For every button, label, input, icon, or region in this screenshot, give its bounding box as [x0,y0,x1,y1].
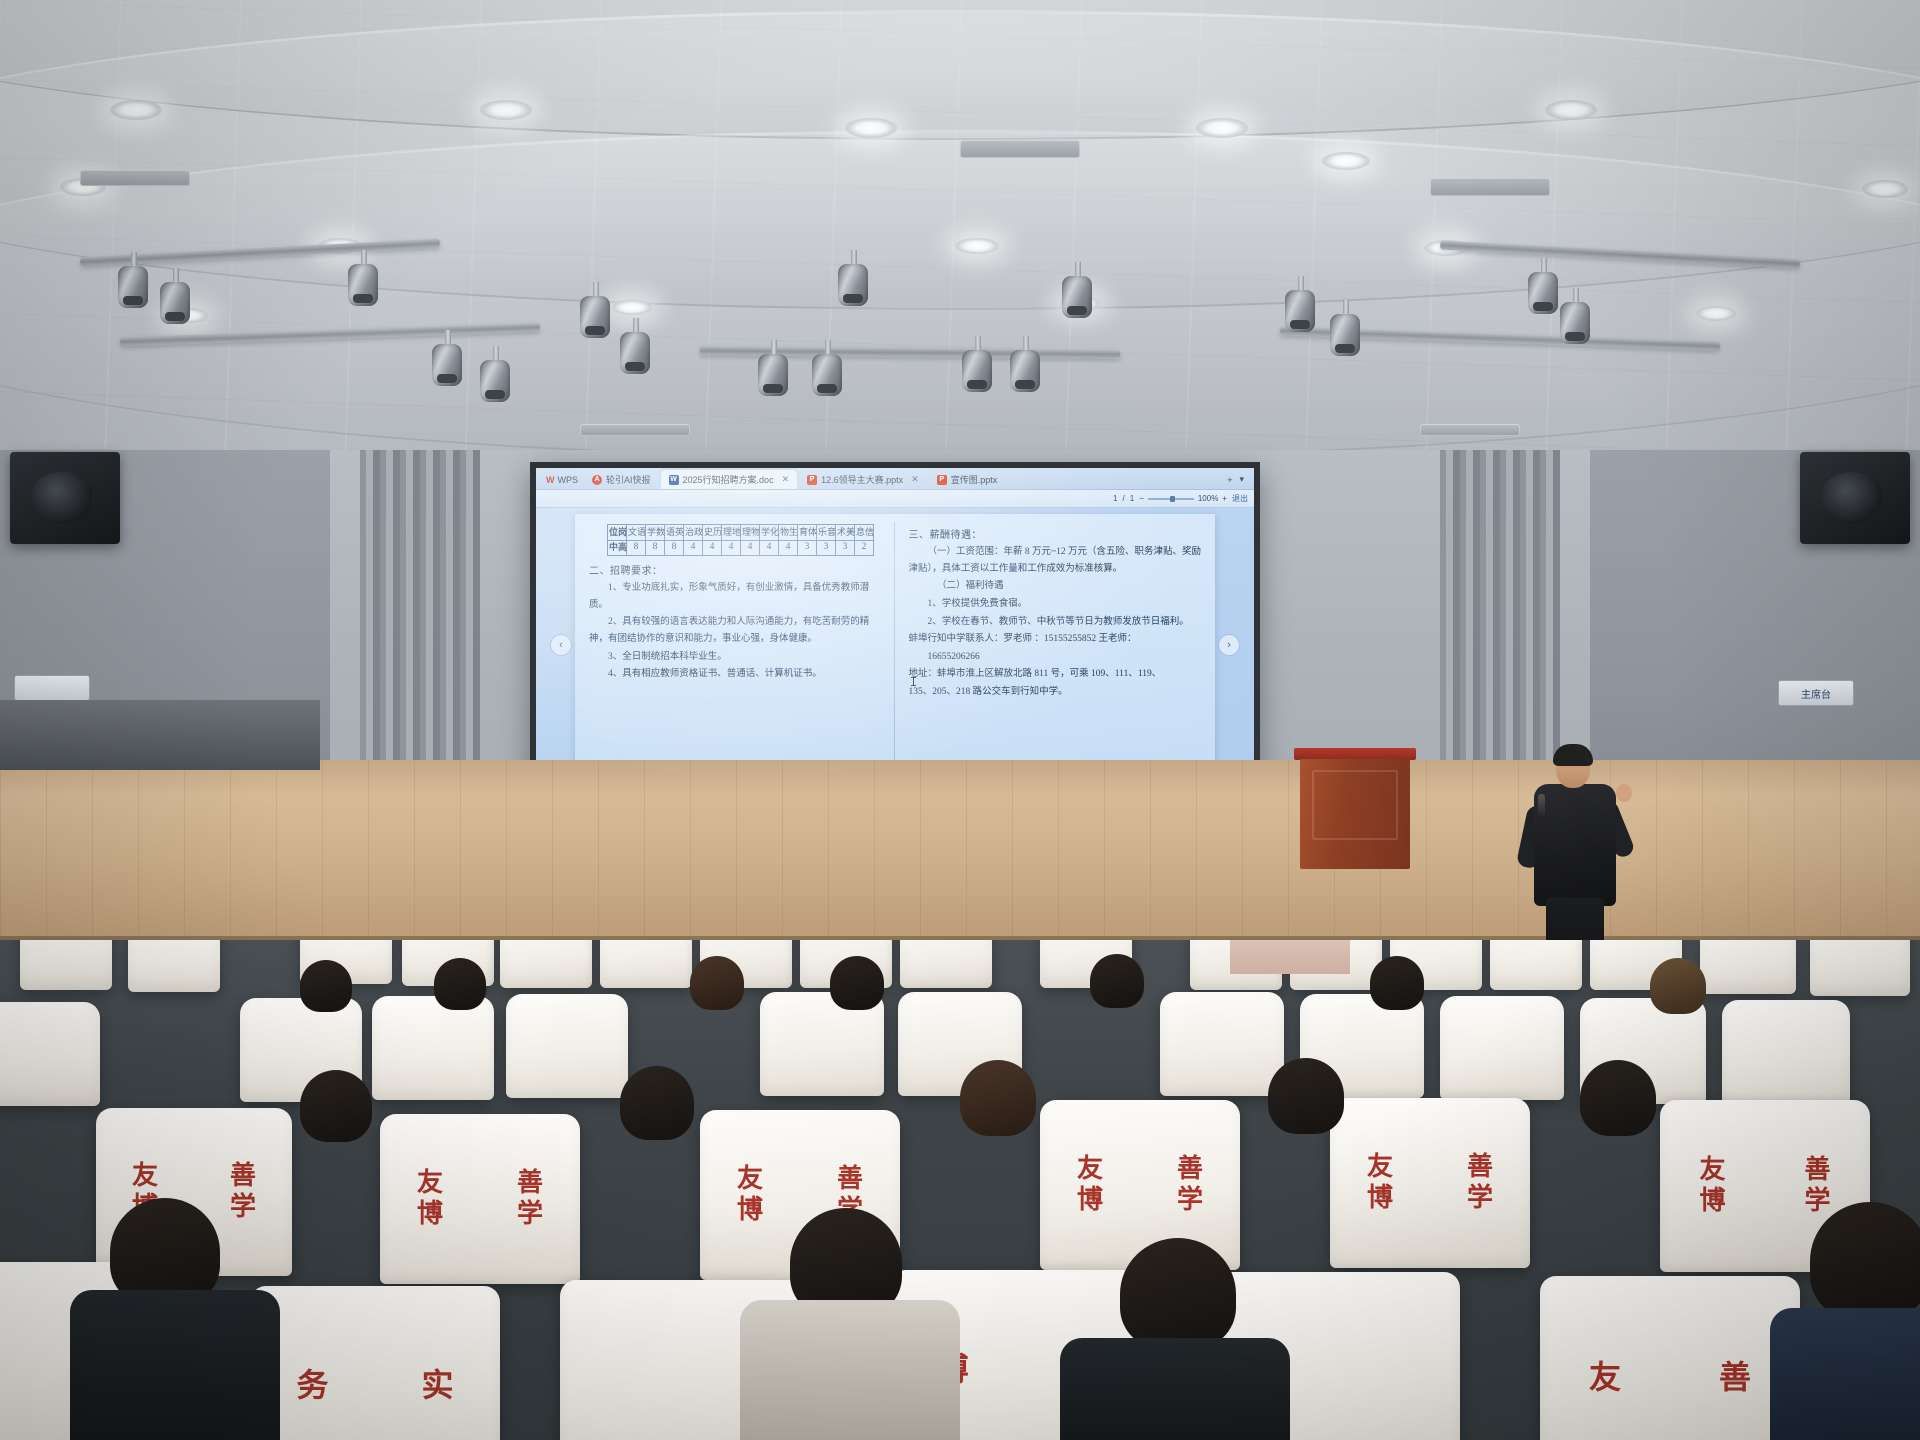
ceiling [0,0,1920,470]
text-caret [913,677,914,686]
chair-motto: 友 善 博 学 [380,1114,580,1284]
tab-label: 宣传图.pptx [951,473,998,486]
requirement-item: 3、全日制统招本科毕业生。 [589,649,882,666]
audience-head [1120,1238,1236,1350]
table-cell: 3 [798,540,817,556]
chair [1700,940,1796,994]
toolbar-right-group: 1 / 1 − 100% + 退出 [1113,493,1248,504]
motto-char: 学 [517,1199,543,1230]
table-header-cell: 化学 [760,525,779,541]
tab-promo-pptx[interactable]: P 宣传图.pptx [929,470,1006,489]
requirement-item: 4、具有相应教师资格证书、普通话、计算机证书。 [589,666,882,683]
chair [372,996,494,1100]
salary-range-paragraph: （一）工资范围：年薪 8 万元~12 万元（含五险、职务津贴、奖励津贴），具体工… [909,544,1202,577]
speaking-podium [1300,748,1410,868]
subject-label: 英语 [665,525,683,536]
audience-head [620,1066,694,1140]
contact-phone-second: 16655206266 [909,649,1202,666]
chair: 务 实 [250,1286,500,1440]
motto-char: 实 [421,1367,453,1405]
wps-logo: W WPS [540,475,584,485]
audience-head [1810,1202,1920,1320]
table-corner-label: 岗位 [608,525,626,536]
table-cell: 8 [627,540,646,556]
chair [600,940,692,988]
subject-label: 化学 [760,525,778,536]
zoom-out-button[interactable]: − [1139,494,1144,503]
table-cell: 4 [703,540,722,556]
subject-label: 地理 [722,525,740,536]
motto-char: 友 [417,1168,443,1199]
motto-char: 友 [1589,1359,1621,1397]
requirements-heading: 二、招聘要求： [589,562,882,577]
tab-label: 轮引AI快报 [606,473,651,486]
chair [1810,940,1910,996]
ceiling-downlight [110,100,162,120]
chair [1490,940,1582,990]
zoom-in-button[interactable]: + [1222,494,1227,503]
next-page-button[interactable]: › [1218,634,1240,656]
table-row-header: 岗位 语文 数学 英语 政治 历史 地理 物理 化学 生物 [608,525,874,541]
audience-torso [70,1290,280,1440]
exit-button[interactable]: 退出 [1232,493,1248,504]
motto-char: 博 [417,1199,443,1230]
audience-torso [1230,940,1350,974]
address-line-2: 135、205、218 路公交车到行知中学。 [909,684,1202,701]
motto-char: 务 [296,1367,328,1405]
table-header-cell: 音乐 [817,525,836,541]
audience-head [434,958,486,1010]
ceiling-downlight [1196,118,1248,138]
subject-label: 美术 [836,525,854,536]
ceiling-downlight [1696,306,1736,321]
ac-vent [1430,178,1550,196]
tab-recruitment-doc[interactable]: W 2025行知招聘方案.doc ✕ [661,470,798,489]
stage-floor [0,760,1920,960]
word-doc-icon: W [669,475,679,485]
close-icon[interactable]: ✕ [911,474,919,485]
table-cell: 3 [817,540,836,556]
wps-tabbar: W WPS A 轮引AI快报 W 2025行知招聘方案.doc ✕ P 12.6… [536,468,1254,490]
wps-toolbar: 1 / 1 − 100% + 退出 [536,490,1254,508]
table-cell: 3 [836,540,855,556]
chair [0,1002,100,1106]
welfare-item: 1、学校提供免费食宿。 [909,596,1202,613]
sign-left-panel [14,675,90,701]
subject-label: 体育 [798,525,816,536]
chair-motto: 务 实 [250,1286,500,1440]
tab-ai-report[interactable]: A 轮引AI快报 [584,470,659,489]
stage-curtain-left [360,450,480,790]
table-cell: 8 [665,540,684,556]
ac-vent [1420,424,1520,436]
audience-head [300,1070,372,1142]
table-header-cell: 英语 [665,525,684,541]
motto-char: 博 [1077,1185,1103,1216]
zoom-level-label: 100% [1198,494,1218,503]
chair: 友 善 博 学 [380,1114,580,1284]
motto-char: 善 [517,1168,543,1199]
audience-torso [1060,1338,1290,1440]
table-header-cell: 数学 [646,525,665,541]
tabbar-controls: + ▾ [1227,474,1250,485]
chair: 友 善 博 学 [1330,1098,1530,1268]
audience-head [1268,1058,1344,1134]
chevron-down-icon[interactable]: ▾ [1239,474,1244,485]
subject-quota-table: 岗位 语文 数学 英语 政治 历史 地理 物理 化学 生物 [607,524,874,556]
chair [128,940,220,992]
table-cell: 4 [684,540,703,556]
document-viewport[interactable]: 岗位 语文 数学 英语 政治 历史 地理 物理 化学 生物 [536,508,1254,799]
subject-label: 语文 [627,525,645,536]
ceiling-downlight [1545,100,1597,120]
subject-label: 历史 [703,525,721,536]
chair-motto: 友 善 博 学 [1040,1100,1240,1270]
subject-label: 生物 [779,525,797,536]
presenter-speaker [1520,748,1630,958]
auditorium-scene: 主席台 出口 出口 W WPS A 轮引AI快报 W 2025行知招聘方案.do… [0,0,1920,1440]
motto-char: 友 [737,1164,763,1195]
chair-motto: 友 善 博 学 [1330,1098,1530,1268]
ceiling-downlight [480,100,532,120]
table-cell: 4 [741,540,760,556]
welfare-heading: （二）福利待遇 [909,578,1202,595]
audience-head [960,1060,1036,1136]
powerpoint-icon: P [807,475,817,485]
page-total: 1 [1130,494,1134,503]
address-line: 地址：蚌埠市淮上区解放北路 811 号，可乘 109、111、119、 [909,666,1202,683]
table-row-label: 高中 [608,541,626,552]
new-tab-icon[interactable]: + [1227,475,1232,485]
stage-curtain-right [1440,450,1560,790]
wps-logo-label: WPS [558,475,579,485]
table-header-cell: 体育 [798,525,817,541]
handheld-microphone [1538,794,1545,818]
table-row-label-cell: 高中 [608,540,627,556]
audience-torso [740,1300,960,1440]
welfare-item: 2、学校在春节、教师节、中秋节等节日为教师发放节日福利。 [909,614,1202,631]
chair: 友 善 [1540,1276,1800,1440]
audience-head [1370,956,1424,1010]
motto-char: 善 [1719,1359,1751,1397]
motto-char: 善 [1177,1154,1203,1185]
ac-vent [960,140,1080,158]
table-cell: 4 [760,540,779,556]
document-column-right: 三、薪酬待遇： （一）工资范围：年薪 8 万元~12 万元（含五险、职务津贴、奖… [894,522,1202,791]
tab-label: 12.6领导主大赛.pptx [821,473,903,486]
subject-label: 信息 [855,525,873,536]
ceiling-downlight [845,118,897,138]
motto-char: 博 [1367,1183,1393,1214]
motto-char: 学 [1804,1186,1830,1217]
chair [900,940,992,988]
audience-head [1650,958,1706,1014]
table-cell: 4 [779,540,798,556]
motto-char: 友 [1367,1152,1393,1183]
subject-label: 物理 [741,525,759,536]
salary-heading: 三、薪酬待遇： [909,526,1202,541]
table-header-cell: 信息 [855,525,874,541]
motto-char: 学 [1177,1185,1203,1216]
audience-head [830,956,884,1010]
chair-motto: 友 善 [1540,1276,1800,1440]
motto-char: 学 [1467,1183,1493,1214]
document-page: 岗位 语文 数学 英语 政治 历史 地理 物理 化学 生物 [575,514,1215,799]
tab-label: 2025行知招聘方案.doc [683,473,774,486]
audience-head [1580,1060,1656,1136]
ceiling-downlight [1862,180,1908,198]
motto-char: 友 [1077,1154,1103,1185]
subject-label: 政治 [684,525,702,536]
ceiling-downlight [612,300,652,315]
powerpoint-icon: P [937,475,947,485]
chair [20,940,112,990]
table-corner-header: 岗位 [608,525,627,541]
chair [500,940,592,988]
table-header-cell: 地理 [722,525,741,541]
zoom-slider[interactable] [1148,498,1194,500]
stage-floor-boards [0,760,1920,960]
chair [1160,992,1284,1096]
audience-head [690,956,744,1010]
ac-vent [80,170,190,186]
wps-ai-icon: A [592,475,602,485]
motto-char: 善 [1804,1155,1830,1186]
chair: 友 善 博 学 [1040,1100,1240,1270]
table-header-cell: 历史 [703,525,722,541]
requirement-item: 2、具有较强的语言表达能力和人际沟通能力，有吃苦耐劳的精神，有团结协作的意识和能… [589,614,882,647]
audience-seating: 友 善 博 学 友 善 博 学 友 善 博 学 友 [0,940,1920,1440]
page-number: 1 [1113,494,1117,503]
ceiling-arc [0,130,1920,460]
chair [506,994,628,1098]
table-header-cell: 物理 [741,525,760,541]
subject-label: 音乐 [817,525,835,536]
subject-label: 数学 [646,525,664,536]
wall-speaker-left [10,452,120,544]
table-header-cell: 生物 [779,525,798,541]
table-header-cell: 语文 [627,525,646,541]
sign-right-panel: 主席台 [1778,680,1854,706]
tab-contest-pptx[interactable]: P 12.6领导主大赛.pptx ✕ [799,470,927,489]
motto-char: 博 [737,1195,763,1226]
audience-head [300,960,352,1012]
table-header-cell: 美术 [836,525,855,541]
stage-left-platform [0,700,320,770]
requirement-item: 1、专业功底扎实，形象气质好，有创业激情，具备优秀教师潜质。 [589,580,882,613]
document-column-left: 岗位 语文 数学 英语 政治 历史 地理 物理 化学 生物 [589,522,894,791]
table-row: 高中 8 8 8 4 4 4 4 4 4 3 [608,540,874,556]
chair [1440,996,1564,1100]
motto-char: 友 [1699,1155,1725,1186]
motto-char: 善 [837,1164,863,1195]
ceiling-downlight [955,238,999,254]
table-cell: 2 [855,540,874,556]
ac-vent [580,424,690,436]
motto-char: 友 [132,1161,158,1192]
table-header-cell: 政治 [684,525,703,541]
wall-speaker-right [1800,452,1910,544]
chair [1722,1000,1850,1108]
zoom-control[interactable]: − 100% + [1139,494,1227,503]
table-cell: 4 [722,540,741,556]
motto-char: 善 [230,1161,256,1192]
motto-char: 学 [230,1192,256,1223]
page-separator: / [1123,494,1125,503]
motto-char: 善 [1467,1152,1493,1183]
ceiling-downlight [1322,152,1370,170]
close-icon[interactable]: ✕ [782,474,790,485]
motto-char: 博 [1699,1186,1725,1217]
audience-head [1090,954,1144,1008]
wps-logo-mark: W [546,475,555,485]
audience-torso [1770,1308,1920,1440]
table-cell: 8 [646,540,665,556]
prev-page-button[interactable]: ‹ [550,634,572,656]
contact-line: 蚌埠行知中学联系人：罗老师 ：15155255852 王老师： [909,631,1202,648]
